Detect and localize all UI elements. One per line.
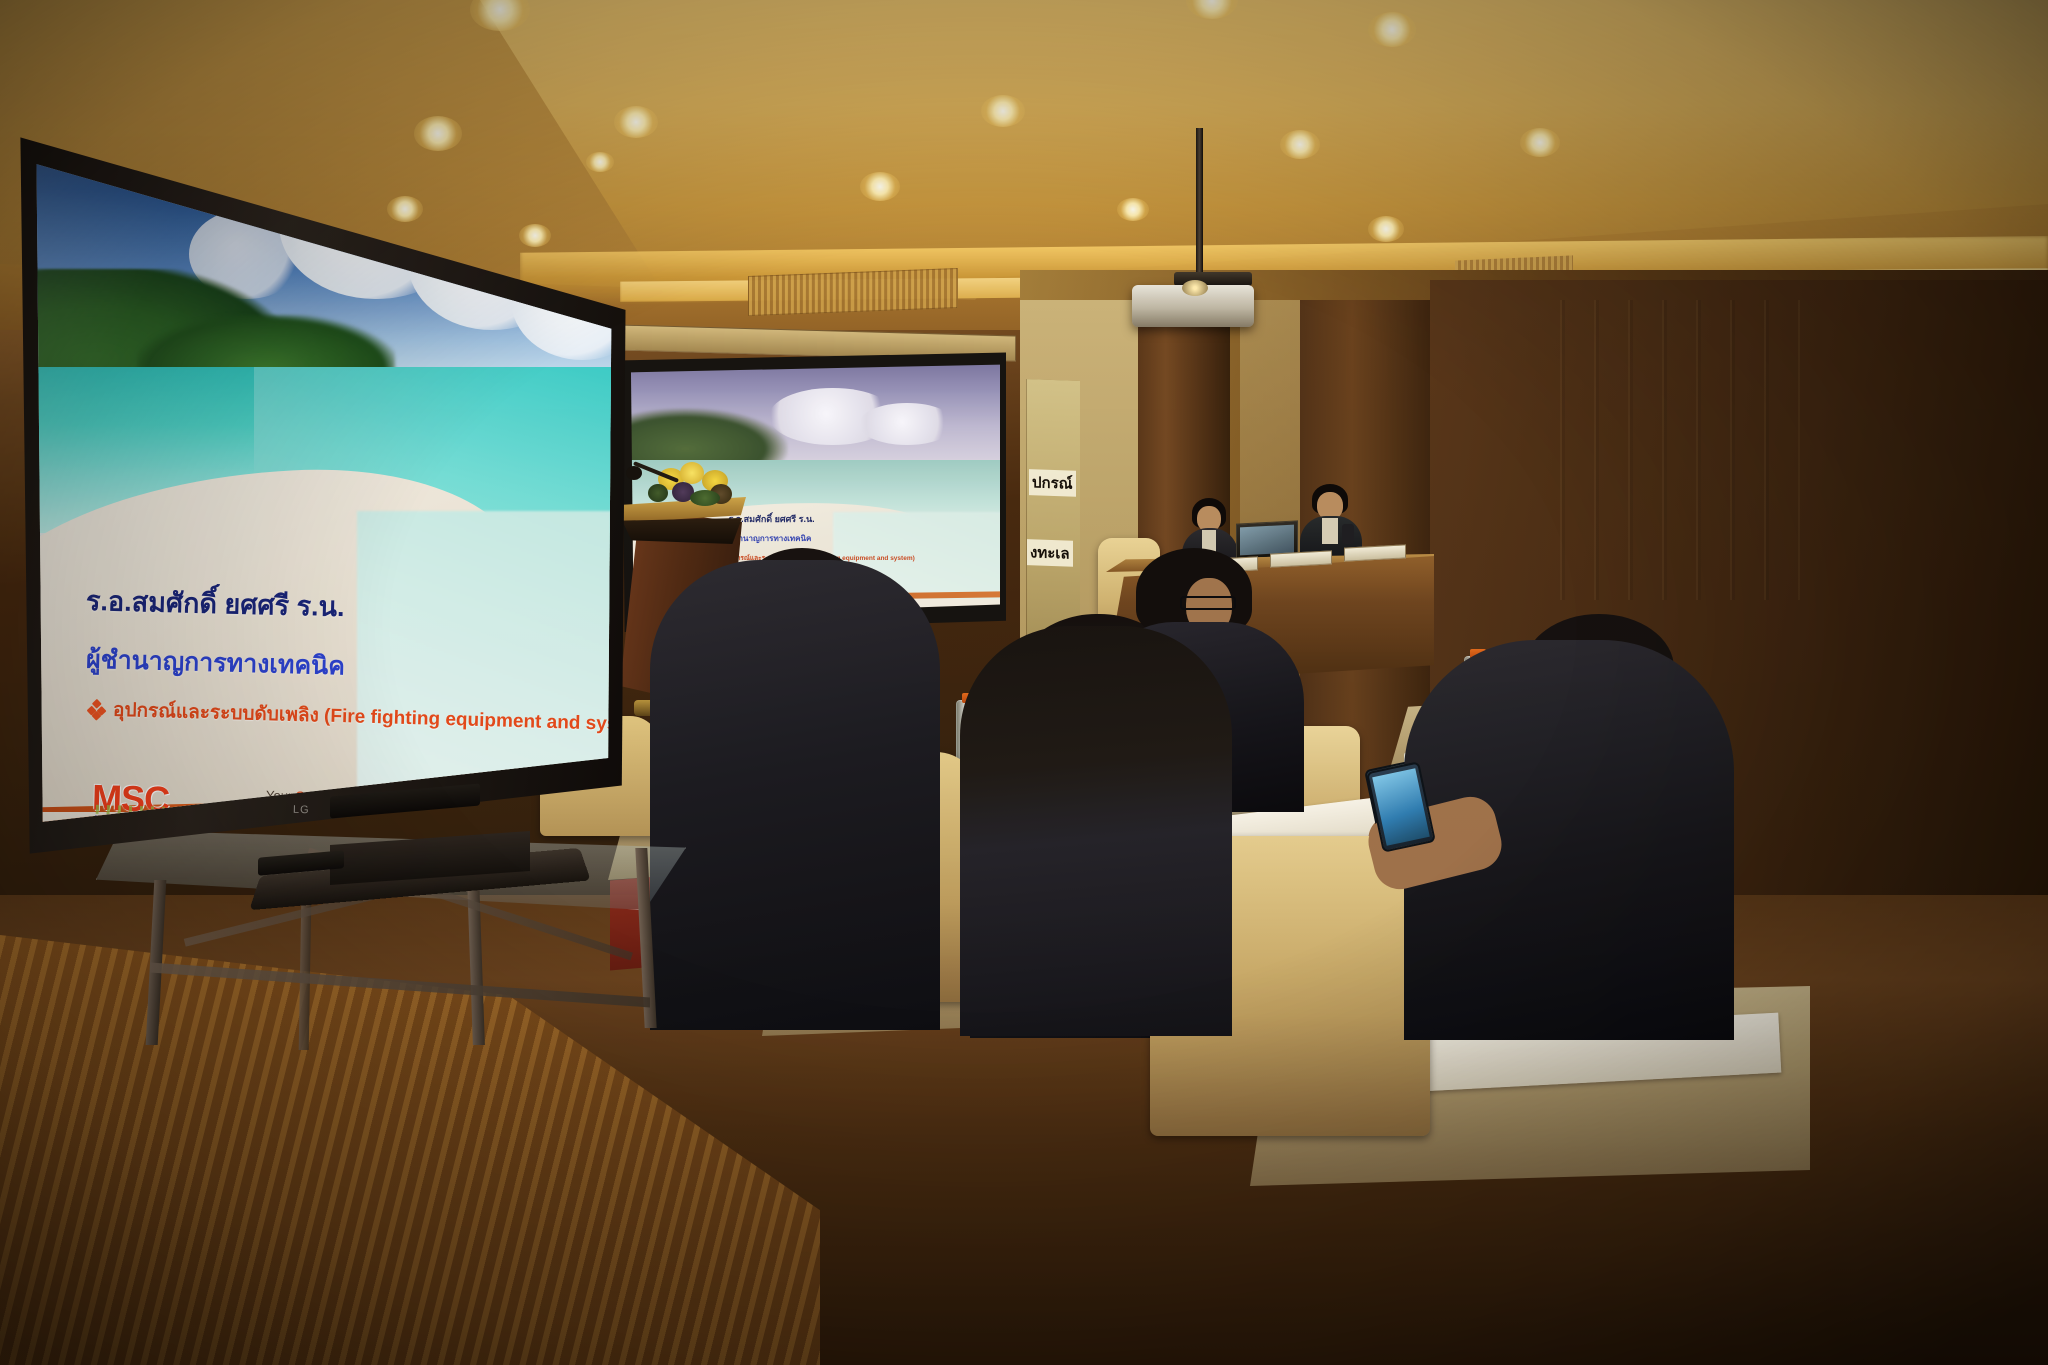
slide-topic-line: อุปกรณ์และระบบดับเพลิง (Fire fighting eq… [89, 694, 628, 740]
projector-lens [1182, 280, 1208, 296]
podium-flower-arrangement [650, 462, 746, 514]
projected-cloud-2 [859, 403, 956, 444]
banner-line-2: งทะเล [1027, 539, 1073, 567]
ceiling-downlight-5 [1280, 130, 1320, 159]
podium-microphone [626, 466, 642, 480]
ceiling-downlight-10 [1368, 216, 1404, 242]
ceiling-downlight-14 [1117, 198, 1149, 221]
banner-line-1: ปกรณ์ [1029, 469, 1076, 497]
attendee-man-center-silhouette [650, 560, 940, 1030]
panelist-microphone [1342, 524, 1354, 544]
ceiling-downlight-9 [860, 172, 900, 201]
tv-brand-logo: LG [293, 803, 310, 815]
slide-topic-text: อุปกรณ์และระบบดับเพลิง (Fire fighting eq… [113, 695, 628, 740]
attendee-woman-center-silhouette [960, 626, 1232, 1036]
slide-speaker-name: ร.อ.สมศักดิ์ ยศศรี ร.น. [85, 579, 345, 628]
slide-speaker-title: ผู้ชำนาญการทางเทคนิค [85, 639, 345, 686]
podium-reading-shelf [622, 518, 742, 544]
conference-room-photo: ปกรณ์ งทะเล ร.อ.สมศักดิ์ ยศศรี ร.น. ผู้ช… [0, 0, 2048, 1365]
ceiling-downlight-3 [1368, 12, 1416, 47]
diamond-bullet-icon [89, 701, 105, 717]
television: ร.อ.สมศักดิ์ ยศศรี ร.น. ผู้ชำนาญการทางเท… [8, 133, 628, 858]
ceiling-air-grille [748, 268, 958, 316]
eyeglasses [1180, 596, 1236, 610]
projector-mount-rod [1196, 128, 1203, 278]
ceiling-downlight-4 [981, 95, 1025, 127]
ceiling-downlight-8 [1520, 128, 1560, 157]
wood-wall-texture [1560, 300, 1800, 600]
